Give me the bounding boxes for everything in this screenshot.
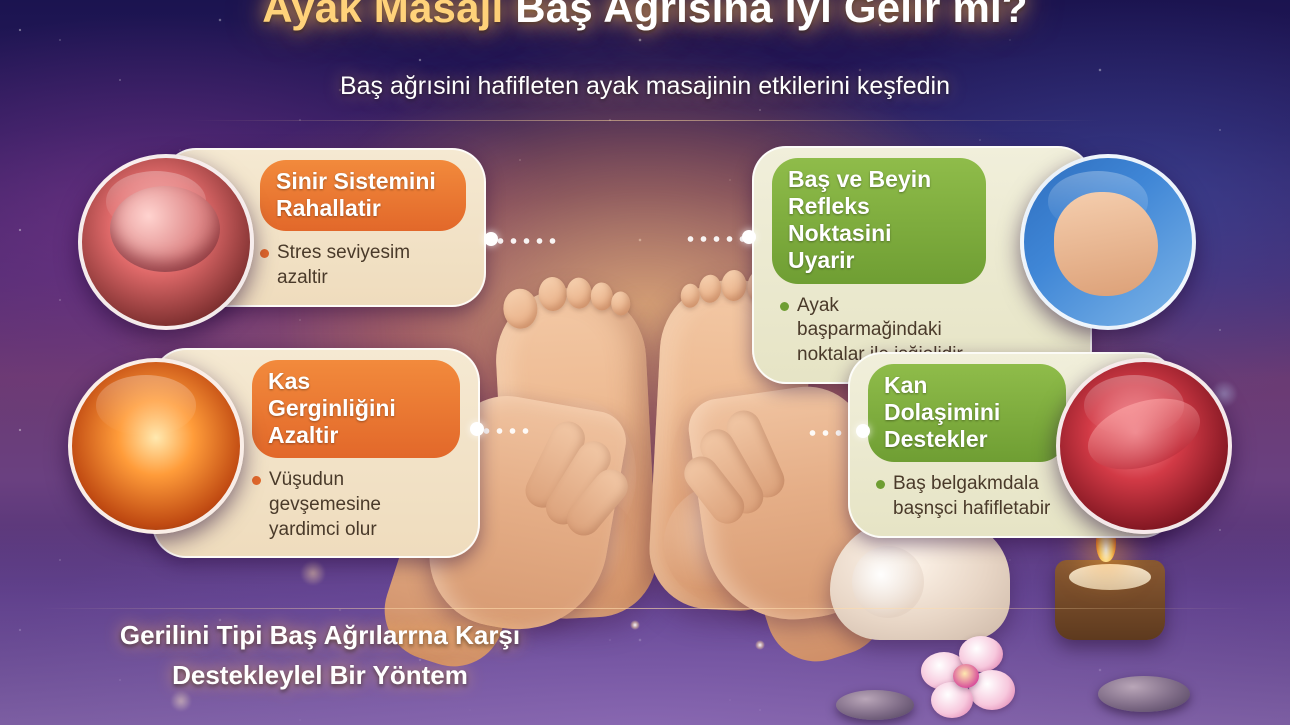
circle-sheen: [1084, 375, 1185, 435]
bullet-text: Baş belgakmdala başnşci hafifletabir: [893, 472, 1066, 521]
card-muscle-tension-heading: Kas Gerginliğini Azaltir: [252, 360, 460, 458]
bullet-dot-icon: [252, 476, 261, 485]
toe: [680, 283, 700, 308]
card-head-brain-reflex[interactable]: Baş ve Beyin Refleks Noktasini Uyarir Ay…: [752, 146, 1092, 384]
footer-divider: [40, 608, 1250, 609]
card-nervous-system-bullets: Stres seviyesim azaltir: [260, 241, 462, 290]
toe: [502, 288, 538, 330]
bullet-item: Baş belgakmdala başnşci hafifletabir: [876, 472, 1066, 521]
circle-sheen: [96, 375, 197, 435]
bullet-text: Vüşudun gevşemesine yardimci olur: [269, 468, 456, 542]
connector-node: [742, 230, 756, 244]
toe: [698, 274, 721, 303]
page-subtitle: Baş ağrısini hafifleten ayak masajinin e…: [0, 72, 1290, 101]
orchid-center: [953, 664, 979, 688]
connector-left-bottom: [480, 428, 534, 434]
card-nervous-system[interactable]: Sinir Sistemini Rahallatir Stres seviyes…: [78, 148, 486, 307]
sparkle: [755, 640, 765, 650]
page-title-highlight: Ayak Masajı: [262, 0, 503, 31]
sparkle: [630, 620, 640, 630]
bullet-item: Stres seviyesim azaltir: [260, 241, 462, 290]
orchid-flower: [915, 630, 1025, 725]
muscle-fibers-illustration-icon: [68, 358, 244, 534]
left-foot-toes: [498, 269, 641, 346]
card-nervous-system-heading: Sinir Sistemini Rahallatir: [260, 160, 466, 231]
footer-callout: Gerilini Tipi Baş Ağrılarrna Karşı Deste…: [60, 615, 580, 696]
blood-cells-illustration-icon: [1056, 358, 1232, 534]
infographic-canvas: Ayak Masajı Baş Ağrısına İyi Gelir mi? B…: [0, 0, 1290, 725]
bullet-dot-icon: [780, 302, 789, 311]
toe: [538, 276, 568, 311]
spa-stone: [1098, 676, 1190, 712]
page-title-rest: Baş Ağrısına İyi Gelir mi?: [515, 0, 1027, 31]
card-blood-circulation[interactable]: Kan Dolaşimini Destekler Baş belgakmdala…: [848, 352, 1176, 538]
card-muscle-tension-bullets: Vüşudun gevşemesine yardimci olur: [252, 468, 456, 542]
bullet-dot-icon: [260, 249, 269, 258]
footer-line-1: Gerilini Tipi Baş Ağrılarrna Karşı: [60, 615, 580, 655]
card-muscle-tension[interactable]: Kas Gerginliğini Azaltir Vüşudun gevşeme…: [68, 348, 480, 558]
toe: [611, 291, 631, 316]
bullet-dot-icon: [876, 480, 885, 489]
bullet-text: Stres seviyesim azaltir: [277, 241, 462, 290]
card-head-brain-reflex-heading: Baş ve Beyin Refleks Noktasini Uyarir: [772, 158, 986, 284]
connector-node: [470, 422, 484, 436]
connector-right-top: [684, 236, 746, 242]
page-title: Ayak Masajı Baş Ağrısına İyi Gelir mi?: [0, 0, 1290, 32]
toe: [566, 277, 593, 309]
foot-reflex-illustration-icon: [1020, 154, 1196, 330]
toe: [721, 269, 748, 301]
connector-left-top: [494, 238, 556, 244]
circle-sheen: [1048, 171, 1149, 231]
bokeh-dot: [300, 560, 326, 586]
toe: [590, 282, 613, 311]
circle-sheen: [106, 171, 207, 231]
card-blood-circulation-bullets: Baş belgakmdala başnşci hafifletabir: [876, 472, 1066, 521]
card-blood-circulation-heading: Kan Dolaşimini Destekler: [868, 364, 1066, 462]
footer-line-2: Destekleylel Bir Yöntem: [60, 655, 580, 695]
connector-node: [484, 232, 498, 246]
brain-illustration-icon: [78, 154, 254, 330]
connector-node: [856, 424, 870, 438]
lit-candle: [1055, 560, 1165, 640]
bullet-item: Vüşudun gevşemesine yardimci olur: [252, 468, 456, 542]
title-divider: [190, 120, 1100, 121]
rolled-towel: [830, 520, 1010, 640]
